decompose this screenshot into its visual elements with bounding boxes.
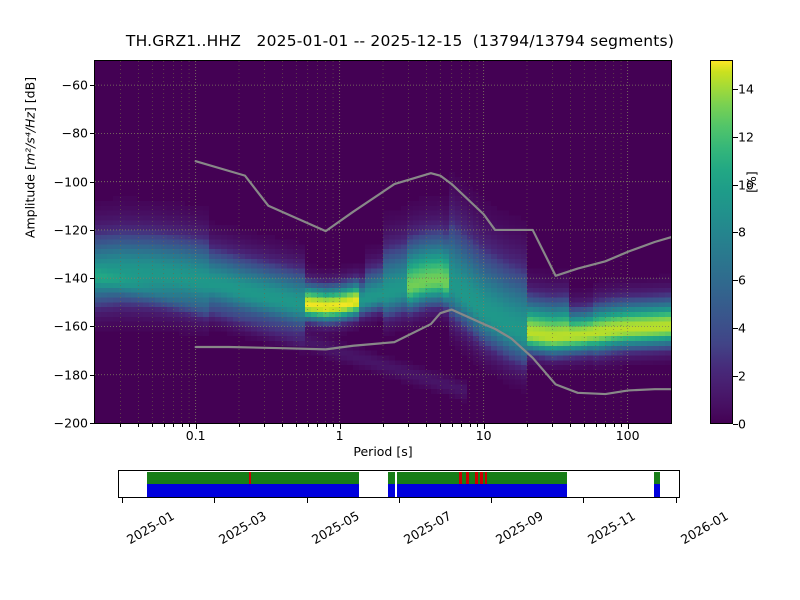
data-availability-row — [147, 472, 359, 484]
tail-green-segment — [654, 472, 660, 484]
data-availability-row — [388, 472, 395, 484]
ppsd-density-image — [95, 61, 671, 423]
timeline-tick-mark — [676, 498, 677, 503]
y-tick-label: −160 — [42, 319, 88, 334]
colorbar-tick-mark — [733, 89, 738, 90]
x-minor-tick-mark — [282, 424, 283, 427]
x-minor-tick-mark — [477, 424, 478, 427]
x-minor-tick-mark — [173, 424, 174, 427]
x-minor-tick-mark — [120, 424, 121, 427]
y-axis-label: Amplitude [m²/s⁴/Hz] [dB] — [23, 0, 38, 340]
colorbar-label: [%] — [744, 152, 759, 212]
colorbar-tick-mark — [733, 185, 738, 186]
x-tick-label: 0.1 — [186, 428, 206, 443]
x-minor-tick-mark — [333, 424, 334, 427]
timeline-red-mark — [459, 472, 462, 484]
x-tick-mark — [628, 424, 629, 429]
psd-coverage-row — [147, 484, 359, 497]
x-tick-mark — [484, 424, 485, 429]
x-minor-tick-mark — [308, 424, 309, 427]
y-axis-label-suffix: ] [dB] — [23, 77, 38, 112]
colorbar-tick-label: 0 — [738, 417, 746, 432]
y-tick-label: −140 — [42, 271, 88, 286]
tail-blue-segment — [654, 484, 660, 497]
x-minor-tick-mark — [152, 424, 153, 427]
colorbar-tick-mark — [733, 137, 738, 138]
x-axis-label: Period [s] — [94, 444, 672, 459]
y-tick-label: −120 — [42, 222, 88, 237]
colorbar-tick-label: 2 — [738, 369, 746, 384]
x-minor-tick-mark — [621, 424, 622, 427]
colorbar-tick-label: 14 — [738, 81, 754, 96]
x-minor-tick-mark — [605, 424, 606, 427]
timeline-tick-mark — [214, 498, 215, 503]
x-minor-tick-mark — [570, 424, 571, 427]
y-tick-label: −80 — [42, 126, 88, 141]
y-tick-label: −180 — [42, 367, 88, 382]
page-title: TH.GRZ1..HHZ 2025-01-01 -- 2025-12-15 (1… — [0, 32, 800, 50]
y-tick-mark — [90, 375, 95, 376]
timeline-tick-mark — [491, 498, 492, 503]
x-minor-tick-mark — [596, 424, 597, 427]
colorbar-tick-mark — [733, 328, 738, 329]
x-tick-mark — [196, 424, 197, 429]
y-tick-label: −100 — [42, 174, 88, 189]
timeline-red-mark — [475, 472, 478, 484]
y-tick-mark — [90, 182, 95, 183]
psd-coverage-row — [396, 484, 567, 497]
colorbar-tick-mark — [733, 376, 738, 377]
colorbar-tick-mark — [733, 232, 738, 233]
y-tick-mark — [90, 278, 95, 279]
x-minor-tick-mark — [470, 424, 471, 427]
x-minor-tick-mark — [296, 424, 297, 427]
timeline-tick-mark — [583, 498, 584, 503]
x-minor-tick-mark — [584, 424, 585, 427]
x-tick-label: 10 — [476, 428, 492, 443]
y-axis-label-prefix: Amplitude [ — [23, 165, 38, 238]
timeline-date-label: 2025-05 — [309, 508, 362, 547]
x-minor-tick-mark — [264, 424, 265, 427]
x-minor-tick-mark — [408, 424, 409, 427]
timeline-tick-mark — [122, 498, 123, 503]
x-minor-tick-mark — [189, 424, 190, 427]
x-minor-tick-mark — [614, 424, 615, 427]
timeline-date-label: 2025-03 — [216, 508, 269, 547]
x-minor-tick-mark — [138, 424, 139, 427]
colorbar-tick-label: 12 — [738, 129, 754, 144]
timeline-red-mark — [249, 472, 251, 484]
x-minor-tick-mark — [426, 424, 427, 427]
timeline-date-label: 2025-01 — [124, 508, 177, 547]
x-minor-tick-mark — [461, 424, 462, 427]
y-tick-label: −200 — [42, 416, 88, 431]
timeline-red-mark — [485, 472, 487, 484]
x-minor-tick-mark — [552, 424, 553, 427]
x-minor-tick-mark — [383, 424, 384, 427]
x-minor-tick-mark — [452, 424, 453, 427]
timeline-red-mark — [466, 472, 469, 484]
timeline-tick-mark — [307, 498, 308, 503]
x-minor-tick-mark — [182, 424, 183, 427]
ppsd-plot-area[interactable] — [94, 60, 672, 424]
y-tick-label: −60 — [42, 78, 88, 93]
x-minor-tick-mark — [326, 424, 327, 427]
colorbar-tick-mark — [733, 424, 738, 425]
y-axis-label-math: m²/s⁴/Hz — [23, 112, 38, 165]
y-tick-mark — [90, 230, 95, 231]
y-tick-mark — [90, 326, 95, 327]
y-tick-mark — [90, 85, 95, 86]
x-minor-tick-mark — [317, 424, 318, 427]
psd-coverage-row — [388, 484, 395, 497]
x-minor-tick-mark — [527, 424, 528, 427]
data-coverage-timeline[interactable] — [118, 470, 680, 498]
x-tick-label: 100 — [616, 428, 640, 443]
timeline-date-label: 2025-09 — [493, 508, 546, 547]
colorbar-tick-mark — [733, 280, 738, 281]
y-tick-mark — [90, 423, 95, 424]
timeline-tick-mark — [399, 498, 400, 503]
ppsd-figure: TH.GRZ1..HHZ 2025-01-01 -- 2025-12-15 (1… — [0, 0, 800, 600]
timeline-gap — [359, 472, 361, 497]
colorbar[interactable] — [710, 60, 733, 424]
timeline-date-label: 2025-11 — [585, 508, 638, 547]
x-tick-label: 1 — [336, 428, 344, 443]
timeline-date-label: 2026-01 — [678, 508, 731, 547]
y-tick-mark — [90, 133, 95, 134]
x-minor-tick-mark — [164, 424, 165, 427]
timeline-red-mark — [480, 472, 483, 484]
colorbar-tick-label: 6 — [738, 273, 746, 288]
colorbar-tick-label: 4 — [738, 321, 746, 336]
x-minor-tick-mark — [239, 424, 240, 427]
x-minor-tick-mark — [440, 424, 441, 427]
timeline-gap — [395, 472, 397, 497]
colorbar-tick-label: 8 — [738, 225, 746, 240]
x-tick-mark — [340, 424, 341, 429]
timeline-date-label: 2025-07 — [401, 508, 454, 547]
